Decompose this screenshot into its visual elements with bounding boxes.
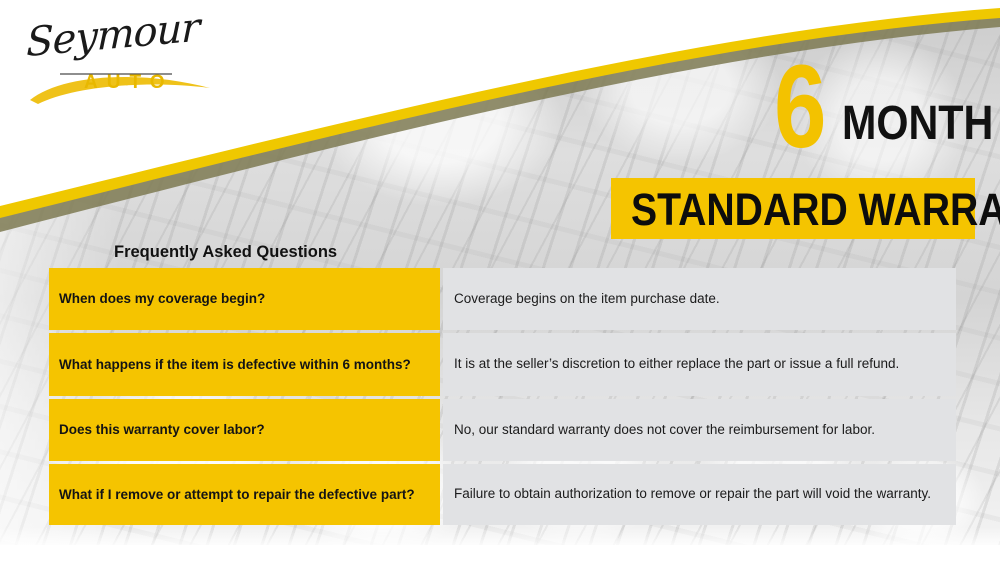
faq-table: When does my coverage begin? Coverage be… [49,268,956,525]
faq-answer: Failure to obtain authorization to remov… [443,464,956,525]
faq-heading: Frequently Asked Questions [114,243,337,262]
standard-warranty-banner: STANDARD WARRANTY [611,178,975,239]
brand-logo: Seymour AUTO [22,18,232,106]
warranty-duration-unit: MONTH [842,100,993,148]
faq-question: What if I remove or attempt to repair th… [49,464,440,525]
faq-question: Does this warranty cover labor? [49,399,440,461]
table-row: When does my coverage begin? Coverage be… [49,268,956,330]
faq-answer: No, our standard warranty does not cover… [443,399,956,461]
table-row: Does this warranty cover labor? No, our … [49,399,956,461]
standard-warranty-banner-text: STANDARD WARRANTY [631,187,1000,232]
faq-question: What happens if the item is defective wi… [49,333,440,396]
table-row: What if I remove or attempt to repair th… [49,464,956,525]
logo-sub-name: AUTO [84,72,173,94]
background-bottom-fade [0,527,1000,563]
warranty-duration-number: 6 [774,48,825,166]
faq-answer: It is at the seller’s discretion to eith… [443,333,956,396]
warranty-slide: Seymour AUTO 6 MONTH STANDARD WARRANTY F… [0,0,1000,563]
faq-question: When does my coverage begin? [49,268,440,330]
faq-answer: Coverage begins on the item purchase dat… [443,268,956,330]
table-row: What happens if the item is defective wi… [49,333,956,396]
